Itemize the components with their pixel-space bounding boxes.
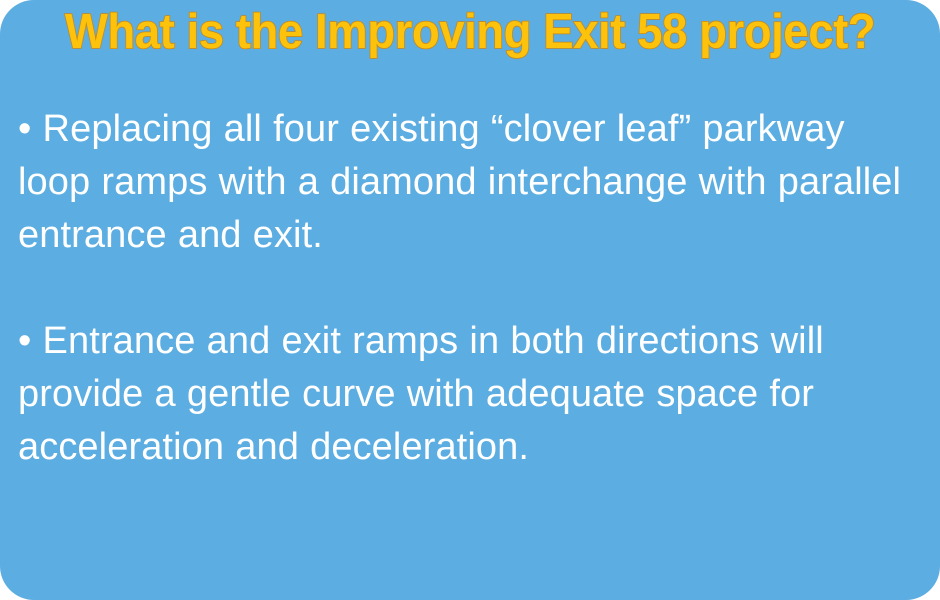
slide-title: What is the Improving Exit 58 project?	[33, 4, 907, 60]
slide-body: • Replacing all four existing “clover le…	[18, 103, 920, 474]
paragraph-spacer	[18, 262, 920, 315]
slide-card: What is the Improving Exit 58 project? •…	[0, 0, 940, 600]
bullet-paragraph-2: • Entrance and exit ramps in both direct…	[18, 315, 920, 474]
bullet-paragraph-1: • Replacing all four existing “clover le…	[18, 103, 920, 262]
